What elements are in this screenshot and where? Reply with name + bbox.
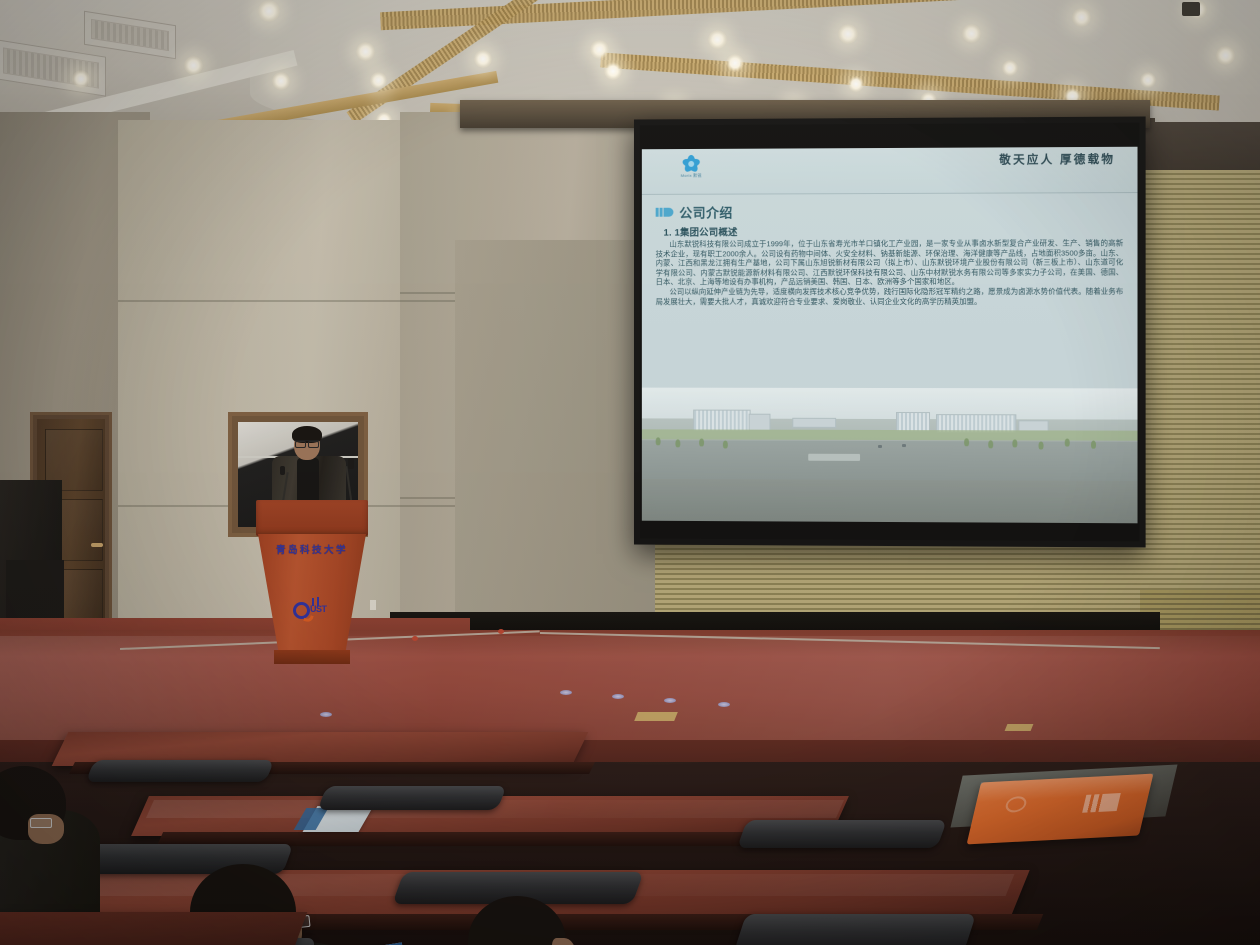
slide-section-title-row: 公司介绍 (656, 201, 1124, 222)
stage-tape-mark (634, 712, 678, 721)
attendee-right-ear (552, 938, 576, 945)
photo-building (792, 418, 836, 428)
downlight (184, 56, 203, 75)
logo-caption: Morix 默锐 (666, 173, 717, 179)
projection-screen[interactable]: Morix 默锐 敬天应人 厚德载物 公司介绍 1. 1集团公司概述 山东默锐科… (634, 116, 1146, 547)
bag-printed-text (1082, 793, 1121, 813)
ac-vent-1 (0, 39, 106, 96)
ceiling-speaker (1182, 2, 1200, 16)
orange-gift-bag[interactable] (967, 774, 1154, 845)
chair-back (317, 786, 507, 810)
lectern-body: 青岛科技大学 UST (258, 534, 366, 652)
microphone-capsule (280, 466, 285, 475)
downlight (1002, 60, 1018, 76)
downlight (272, 72, 290, 90)
door-handle[interactable] (91, 543, 103, 547)
downlight (258, 0, 280, 22)
downlight (726, 54, 744, 72)
lecture-hall-photo: Morix 默锐 敬天应人 厚德载物 公司介绍 1. 1集团公司概述 山东默锐科… (0, 0, 1260, 945)
ac-vent-2 (84, 11, 176, 60)
slide-lower-band (642, 479, 1138, 523)
slide-photo-industrial-park (642, 388, 1138, 481)
chair-back (86, 760, 275, 782)
slide-sub-title: 1. 1集团公司概述 (664, 223, 1124, 238)
qust-logo: UST (293, 598, 331, 624)
slide-section-title: 公司介绍 (679, 203, 732, 222)
floor-uplight (612, 694, 624, 699)
downlight (1216, 46, 1235, 65)
photo-building (693, 410, 750, 432)
slide-body: 公司介绍 1. 1集团公司概述 山东默锐科技有限公司成立于1999年，位于山东省… (642, 193, 1138, 306)
wall-seam (118, 300, 458, 302)
floor-uplight (664, 698, 676, 703)
bullet-bars-icon (656, 208, 674, 217)
speaker-glasses (295, 440, 319, 445)
floor-uplight (320, 712, 332, 717)
attendee-left-glasses (30, 818, 52, 828)
downlight (604, 62, 622, 80)
downlight (370, 72, 387, 89)
lectern-university-label: 青岛科技大学 (258, 542, 366, 556)
downlight (708, 30, 727, 49)
microphone-capsule (348, 458, 354, 469)
downlight (962, 24, 981, 43)
floor-uplight (718, 702, 730, 707)
desk-row-4 (0, 912, 307, 945)
slide-slogan: 敬天应人 厚德载物 (999, 151, 1115, 168)
stage-floor-reflection (0, 636, 1260, 746)
floor-uplight (560, 690, 572, 695)
flower-star-logo-icon (683, 155, 700, 172)
chair-back-front (734, 914, 976, 945)
downlight (356, 42, 375, 61)
qust-logo-tail (303, 614, 313, 623)
presentation-slide: Morix 默锐 敬天应人 厚德载物 公司介绍 1. 1集团公司概述 山东默锐科… (642, 147, 1138, 524)
slide-paragraph-2: 公司以纵向延伸产业链为先导，适度横向发挥技术核心竞争优势，践行国际化隐形冠军精约… (656, 287, 1124, 307)
stage-tape-mark (1005, 724, 1034, 731)
lectern-top (256, 500, 368, 536)
photo-road-near (642, 441, 1138, 481)
wall-outlet (370, 600, 376, 610)
slide-paragraph-1: 山东默锐科技有限公司成立于1999年，位于山东省寿光市羊口镇化工产业园，是一家专… (656, 238, 1124, 287)
speaker-shirt (297, 458, 319, 502)
downlight (72, 70, 90, 88)
downlight (1072, 8, 1091, 27)
audience-area (0, 762, 1260, 945)
slide-header: Morix 默锐 敬天应人 厚德载物 (642, 147, 1138, 195)
qust-logo-text: UST (310, 604, 327, 614)
company-logo: Morix 默锐 (666, 155, 717, 189)
lectern: 青岛科技大学 UST (258, 500, 366, 665)
photo-building (749, 414, 771, 431)
downlight (590, 40, 609, 59)
downlight (474, 50, 492, 68)
wall-slat-cover (455, 240, 655, 660)
downlight (1140, 72, 1156, 88)
downlight (848, 76, 864, 92)
cable-connector (498, 629, 504, 634)
downlight (838, 24, 858, 44)
chair-back (737, 820, 947, 848)
wall-acoustic-slats-right (1140, 170, 1260, 640)
lectern-base (274, 650, 350, 664)
photo-median (808, 454, 860, 461)
cable-connector (412, 636, 418, 641)
